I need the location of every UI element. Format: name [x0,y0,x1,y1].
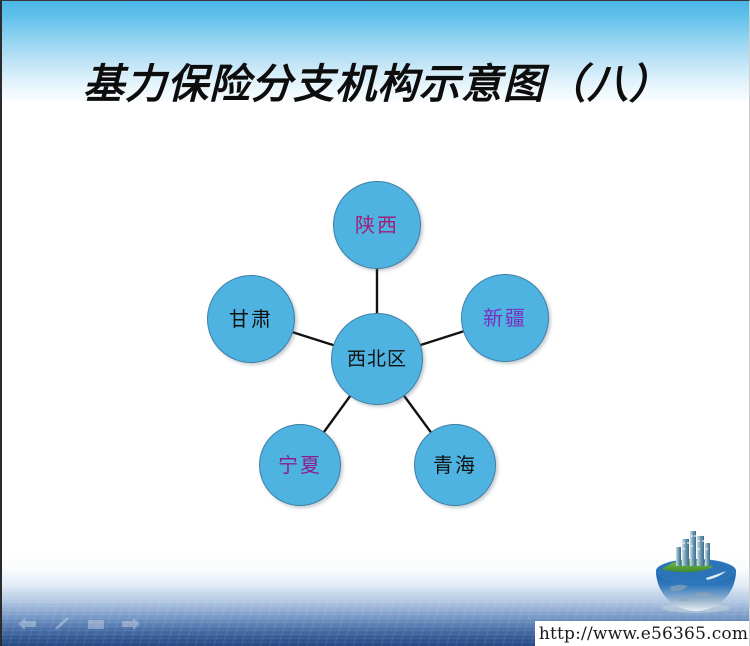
slideshow-nav-controls[interactable] [16,616,142,632]
diagram-node-label: 甘肃 [229,309,273,329]
diagram-edge [420,331,464,345]
diagram-node-branch[interactable]: 陕西 [333,181,421,269]
next-slide-arrow-icon[interactable] [120,616,142,632]
diagram-node-center[interactable]: 西北区 [331,313,423,405]
diagram-node-branch[interactable]: 青海 [414,424,496,506]
diagram-node-label: 宁夏 [278,455,322,475]
diagram-edge [324,395,351,432]
watermark-url-strip: http://www.e56365.com [535,621,750,646]
pen-tool-icon[interactable] [52,616,72,632]
diagram-edge [292,332,334,345]
diagram-node-branch[interactable]: 新疆 [461,274,549,362]
presentation-slide: 基力保险分支机构示意图（八） 陕西甘肃新疆宁夏青海西北区 [0,0,750,646]
diagram-node-label: 陕西 [355,215,399,235]
diagram-node-branch[interactable]: 宁夏 [259,424,341,506]
previous-slide-arrow-icon[interactable] [16,616,38,632]
diagram-node-label: 青海 [433,455,477,475]
slide-menu-icon[interactable] [86,616,106,632]
globe-city-logo [646,523,746,619]
diagram-node-label: 新疆 [483,308,527,328]
org-structure-diagram: 陕西甘肃新疆宁夏青海西北区 [2,1,750,646]
diagram-node-branch[interactable]: 甘肃 [207,275,295,363]
diagram-node-label: 西北区 [347,350,407,369]
watermark-url: http://www.e56365.com [539,624,748,644]
diagram-edge [404,395,432,433]
